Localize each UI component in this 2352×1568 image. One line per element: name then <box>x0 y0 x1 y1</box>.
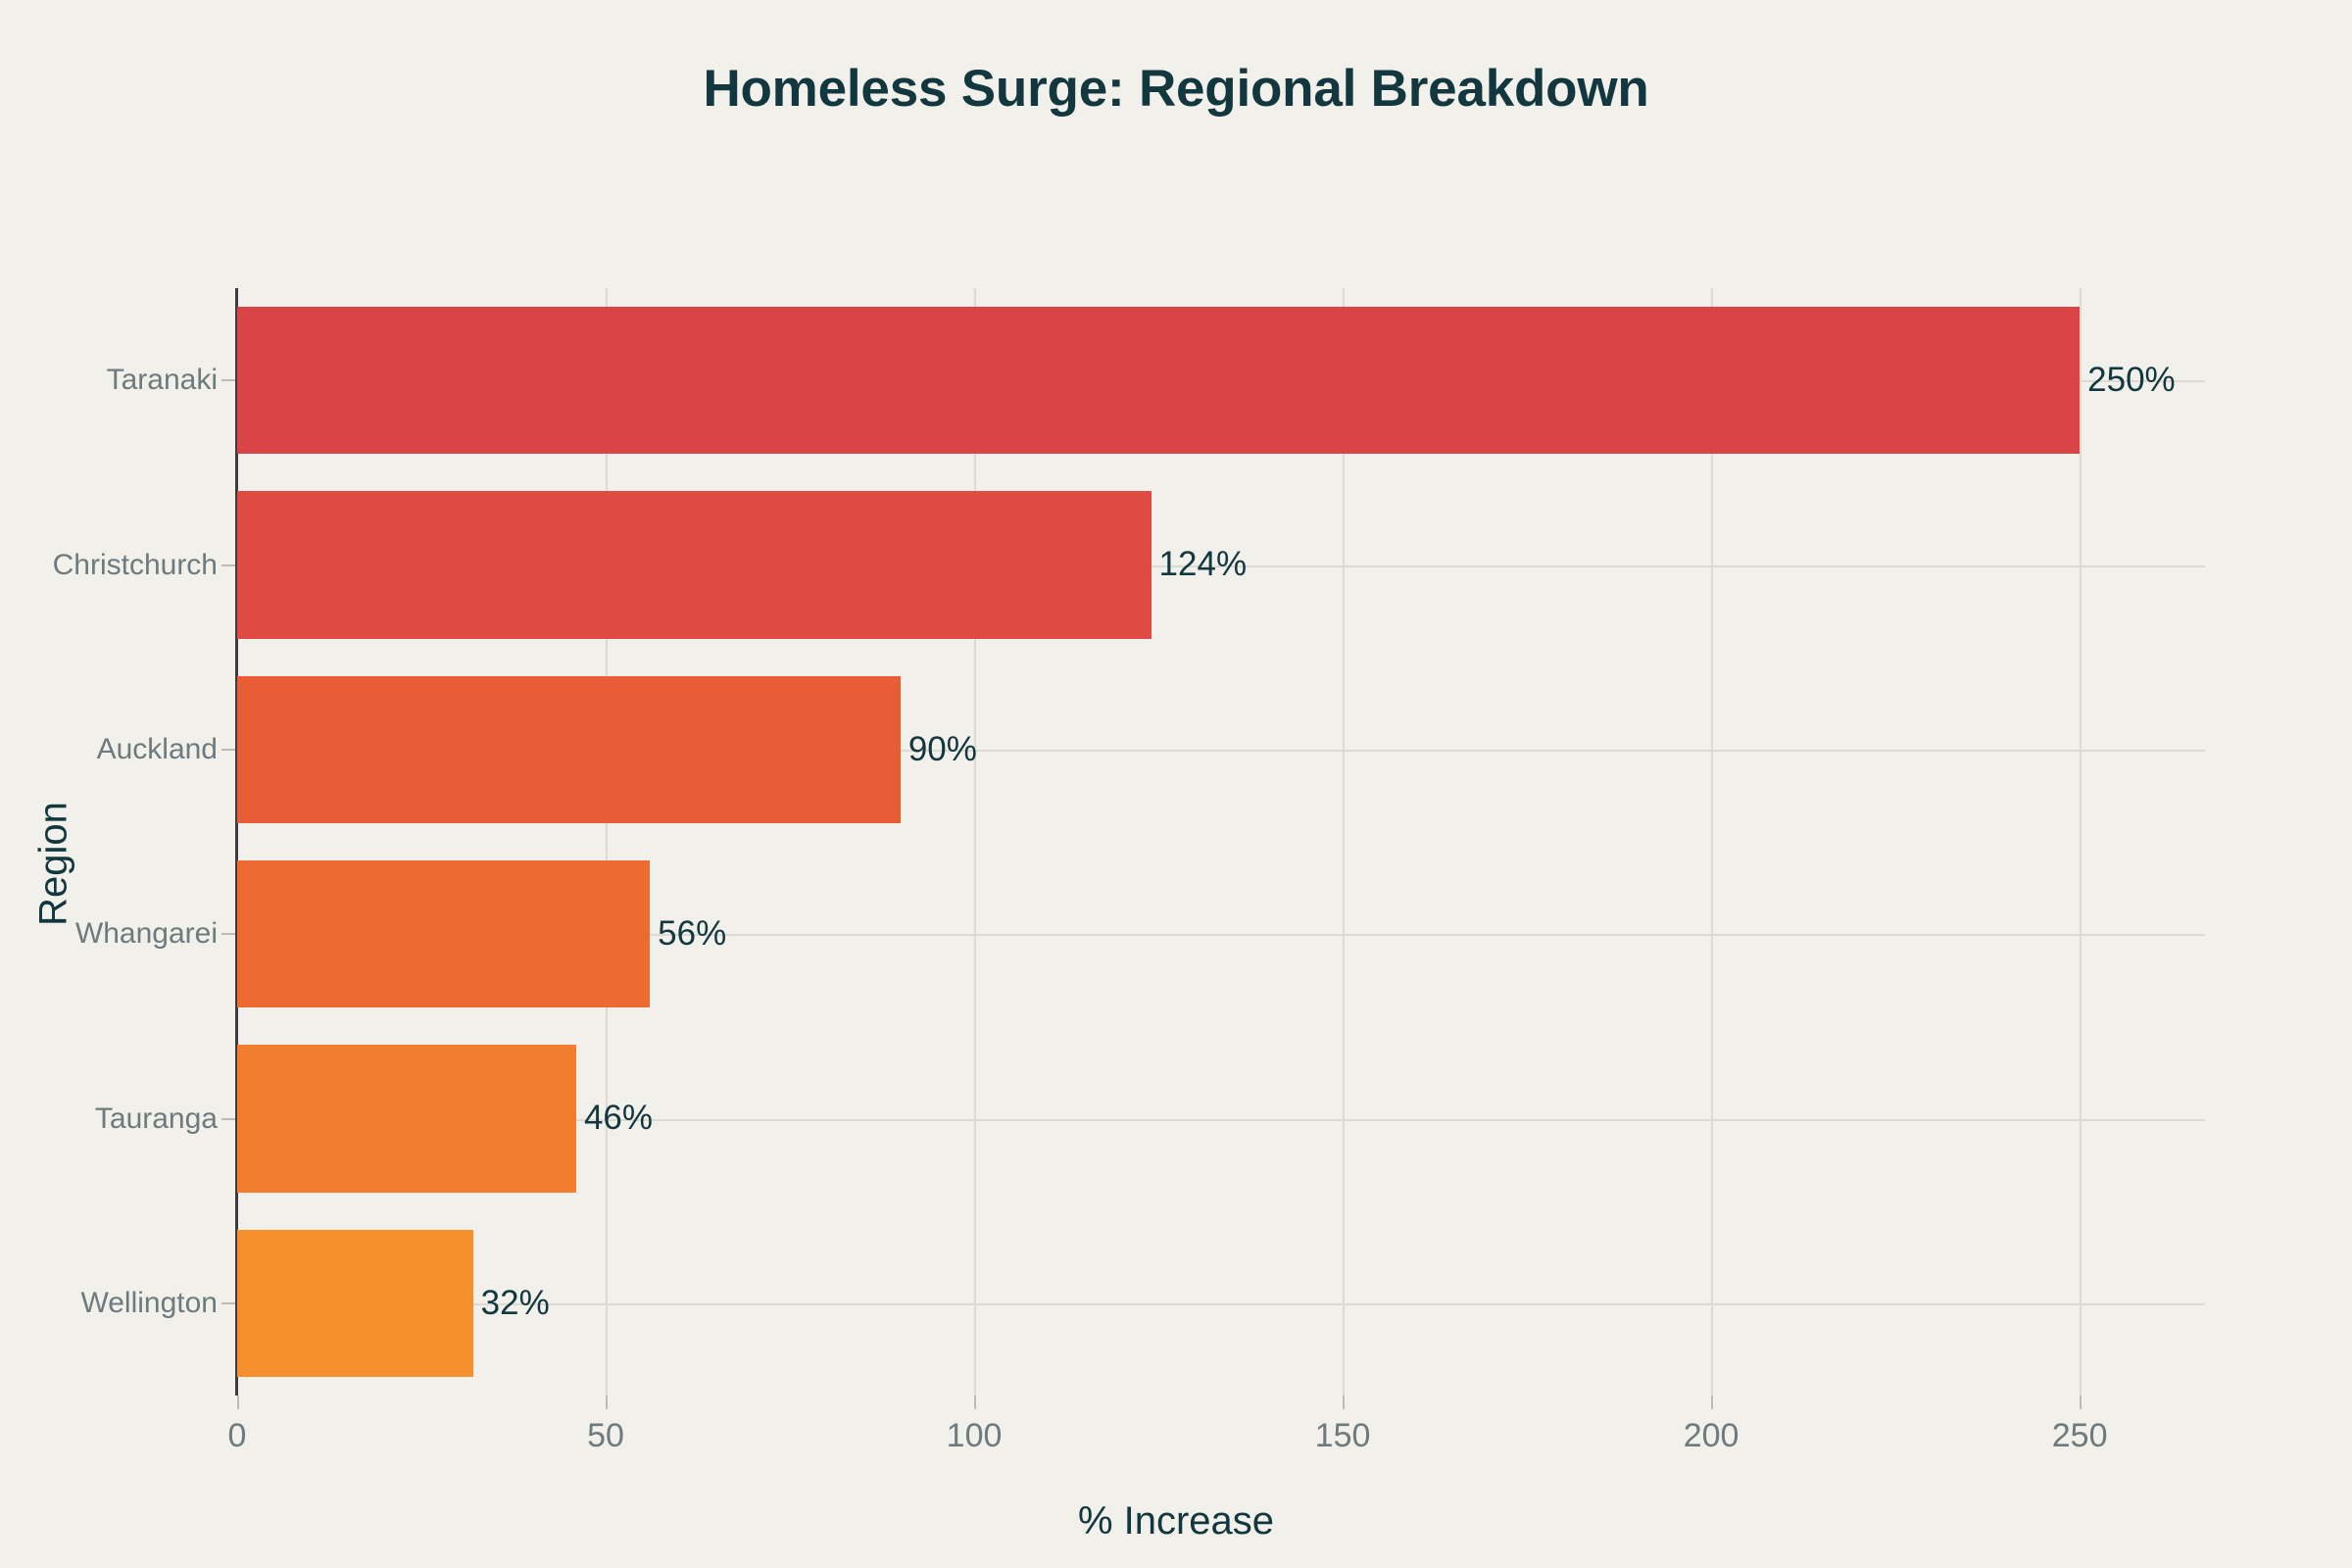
bar[interactable] <box>237 307 2080 455</box>
bar-value-label: 32% <box>473 1284 550 1323</box>
bar-value-label: 46% <box>576 1099 653 1138</box>
bar-row[interactable]: 32% <box>237 1230 2205 1378</box>
x-tick-mark <box>1343 1396 1345 1409</box>
bar[interactable] <box>237 860 650 1008</box>
y-tick-label: Wellington <box>80 1287 218 1320</box>
x-tick-mark <box>2080 1396 2082 1409</box>
y-tick-mark <box>221 564 235 566</box>
y-axis-title: Region <box>32 766 76 962</box>
x-tick-label: 250 <box>2052 1417 2108 1455</box>
x-tick-label: 0 <box>228 1417 247 1455</box>
x-tick-label: 100 <box>947 1417 1003 1455</box>
x-axis-title: % Increase <box>0 1499 2352 1543</box>
y-tick-mark <box>221 933 235 935</box>
x-tick-mark <box>237 1396 239 1409</box>
y-tick-mark <box>221 379 235 381</box>
x-tick-mark <box>606 1396 608 1409</box>
bar-value-label: 124% <box>1151 545 1248 584</box>
bar-row[interactable]: 250% <box>237 307 2205 455</box>
bar[interactable] <box>237 1230 473 1378</box>
y-tick-mark <box>221 1118 235 1120</box>
bar-value-label: 90% <box>901 730 977 769</box>
chart-figure: Homeless Surge: Regional Breakdown 250%1… <box>0 0 2352 1568</box>
y-tick-label: Christchurch <box>53 549 218 582</box>
bar-value-label: 250% <box>2080 361 2176 400</box>
bar-row[interactable]: 124% <box>237 491 2205 639</box>
y-tick-label: Taranaki <box>107 364 218 397</box>
y-tick-mark <box>221 749 235 751</box>
y-tick-label: Whangarei <box>75 917 218 951</box>
y-tick-label: Tauranga <box>95 1102 218 1136</box>
x-tick-mark <box>1711 1396 1713 1409</box>
plot-area: 250%124%90%56%46%32% <box>237 288 2205 1396</box>
x-tick-label: 150 <box>1315 1417 1371 1455</box>
bar-row[interactable]: 90% <box>237 676 2205 824</box>
bar-row[interactable]: 56% <box>237 860 2205 1008</box>
bar-row[interactable]: 46% <box>237 1045 2205 1193</box>
bar[interactable] <box>237 491 1151 639</box>
bar[interactable] <box>237 1045 576 1193</box>
x-tick-label: 200 <box>1684 1417 1739 1455</box>
x-tick-mark <box>974 1396 976 1409</box>
bar[interactable] <box>237 676 901 824</box>
y-tick-mark <box>221 1302 235 1304</box>
y-tick-label: Auckland <box>97 733 218 766</box>
x-tick-label: 50 <box>587 1417 624 1455</box>
chart-title: Homeless Surge: Regional Breakdown <box>0 59 2352 119</box>
bar-value-label: 56% <box>650 914 726 954</box>
